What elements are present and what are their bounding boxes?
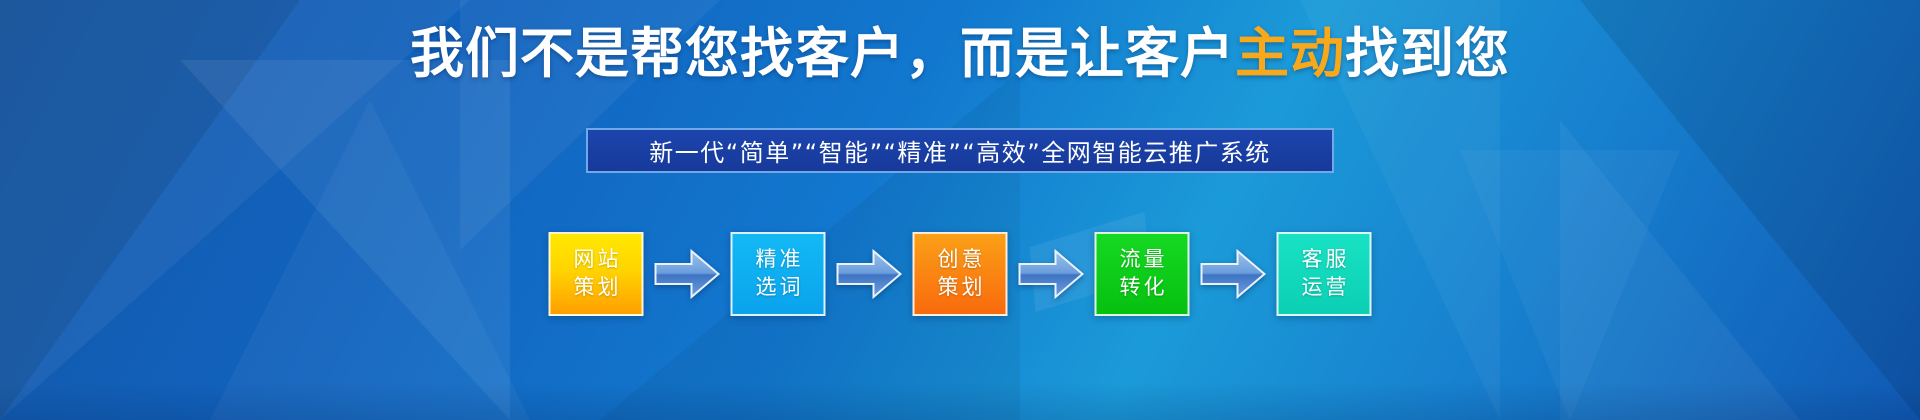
flow-step-website-planning[interactable]: 网站 策划	[549, 232, 644, 316]
next-step-arrow-icon	[836, 248, 903, 300]
flow-step-line1: 创意	[935, 246, 986, 274]
flow-step-line2: 转化	[1117, 274, 1168, 302]
headline-part-two: 找到您	[1345, 22, 1510, 85]
subtitle-bar: 新一代“简单”“智能”“精准”“高效”全网智能云推广系统	[586, 128, 1334, 173]
headline-highlight: 主动	[1235, 22, 1345, 85]
flow-step-line1: 网站	[571, 246, 622, 274]
banner-headline: 我们不是帮您找客户，而是让客户主动找到您	[0, 22, 1920, 86]
next-step-arrow-icon	[1018, 248, 1085, 300]
flow-step-line1: 精准	[753, 246, 804, 274]
flow-step-creative-planning[interactable]: 创意 策划	[913, 232, 1008, 316]
flow-step-traffic-conversion[interactable]: 流量 转化	[1095, 232, 1190, 316]
flow-step-line1: 流量	[1117, 246, 1168, 274]
flow-step-line1: 客服	[1299, 246, 1350, 274]
process-flow: 网站 策划 精准 选词	[549, 232, 1372, 316]
flow-step-line2: 策划	[571, 274, 622, 302]
decorative-polygon	[1460, 150, 1680, 420]
flow-step-customer-service-operation[interactable]: 客服 运营	[1277, 232, 1372, 316]
flow-step-line2: 选词	[753, 274, 804, 302]
headline-part-one: 我们不是帮您找客户，而是让客户	[410, 22, 1235, 85]
bottom-shade	[0, 382, 1920, 420]
next-step-arrow-icon	[1200, 248, 1267, 300]
flow-step-keyword-selection[interactable]: 精准 选词	[731, 232, 826, 316]
next-step-arrow-icon	[654, 248, 721, 300]
flow-step-line2: 策划	[935, 274, 986, 302]
promo-banner: 我们不是帮您找客户，而是让客户主动找到您 新一代“简单”“智能”“精准”“高效”…	[0, 0, 1920, 420]
flow-step-line2: 运营	[1299, 274, 1350, 302]
subtitle-text: 新一代“简单”“智能”“精准”“高效”全网智能云推广系统	[649, 133, 1270, 168]
decorative-polygon	[210, 100, 530, 420]
decorative-polygon	[180, 60, 510, 420]
decorative-polygon	[1560, 120, 1800, 420]
